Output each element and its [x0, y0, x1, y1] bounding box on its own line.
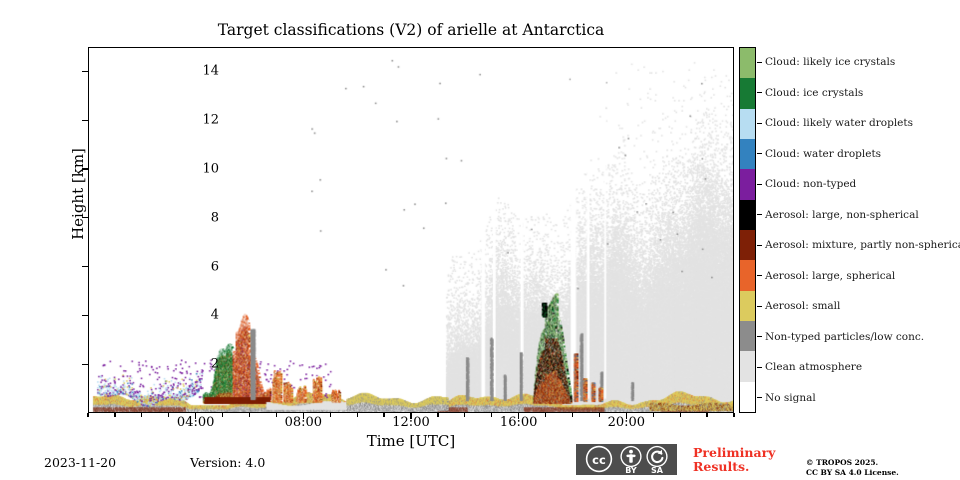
colorbar-label: Cloud: water droplets: [765, 148, 881, 160]
y-tick-mark: [82, 315, 88, 316]
footer-date: 2023-11-20: [44, 455, 116, 470]
x-tick-minor: [87, 413, 88, 417]
svg-text:SA: SA: [651, 466, 664, 475]
colorbar-label: Aerosol: large, spherical: [765, 270, 895, 282]
colorbar-band: [740, 321, 755, 351]
creative-commons-badge: cc BY SA: [576, 444, 677, 475]
colorbar-label: No signal: [765, 392, 816, 404]
x-tick-label: 04:00: [161, 415, 231, 430]
colorbar-tick: [757, 92, 762, 93]
colorbar-tick: [757, 123, 762, 124]
preliminary-line-1: Preliminary: [693, 446, 803, 460]
colorbar-label: Aerosol: mixture, partly non-spherical: [765, 239, 960, 251]
y-tick-label: 4: [179, 308, 219, 323]
y-tick-mark: [82, 266, 88, 267]
svg-text:cc: cc: [592, 453, 606, 467]
x-tick-minor: [572, 413, 573, 417]
copyright-line-2: CC BY SA 4.0 License.: [806, 468, 956, 478]
colorbar-label: Clean atmosphere: [765, 361, 862, 373]
chart-title: Target classifications (V2) of arielle a…: [88, 20, 734, 40]
colorbar-band: [740, 78, 755, 108]
colorbar-tick: [757, 245, 762, 246]
cc-badge-icon: cc BY SA: [576, 444, 677, 475]
colorbar-label: Aerosol: small: [765, 300, 840, 312]
colorbar-band: [740, 169, 755, 199]
x-tick-minor: [141, 413, 142, 417]
x-tick-minor: [733, 413, 734, 417]
x-tick-minor: [357, 413, 358, 417]
y-tick-label: 14: [179, 64, 219, 79]
colorbar-band: [740, 139, 755, 169]
y-tick-mark: [82, 364, 88, 365]
y-tick-label: 10: [179, 162, 219, 177]
colorbar-label: Aerosol: large, non-spherical: [765, 209, 919, 221]
footer-version: Version: 4.0: [190, 455, 265, 470]
colorbar: [739, 47, 756, 413]
y-tick-mark: [82, 217, 88, 218]
colorbar-band: [740, 230, 755, 260]
x-tick-label: 08:00: [268, 415, 338, 430]
colorbar-tick: [757, 275, 762, 276]
figure: Target classifications (V2) of arielle a…: [0, 0, 960, 480]
copyright-note: © TROPOS 2025. CC BY SA 4.0 License.: [806, 458, 956, 477]
x-tick-minor: [680, 413, 681, 417]
y-axis-label: Height [km]: [69, 94, 87, 294]
y-tick-mark: [82, 71, 88, 72]
colorbar-tick: [757, 214, 762, 215]
colorbar-tick: [757, 153, 762, 154]
colorbar-tick: [757, 62, 762, 63]
y-tick-mark: [82, 168, 88, 169]
colorbar-label: Cloud: likely ice crystals: [765, 56, 895, 68]
colorbar-band: [740, 351, 755, 381]
colorbar-band: [740, 109, 755, 139]
colorbar-tick: [757, 306, 762, 307]
y-tick-label: 6: [179, 259, 219, 274]
colorbar-label: Cloud: likely water droplets: [765, 117, 913, 129]
copyright-line-1: © TROPOS 2025.: [806, 458, 956, 468]
colorbar-band: [740, 200, 755, 230]
colorbar-tick: [757, 184, 762, 185]
x-tick-label: 12:00: [376, 415, 446, 430]
colorbar-band: [740, 382, 755, 412]
x-tick-minor: [464, 413, 465, 417]
preliminary-line-2: Results.: [693, 460, 803, 474]
colorbar-label: Cloud: non-typed: [765, 178, 856, 190]
x-tick-label: 16:00: [484, 415, 554, 430]
colorbar-label: Non-typed particles/low conc.: [765, 331, 924, 343]
svg-text:BY: BY: [625, 466, 637, 475]
y-tick-label: 8: [179, 210, 219, 225]
preliminary-results-note: Preliminary Results.: [693, 446, 803, 474]
y-tick-label: 12: [179, 113, 219, 128]
y-tick-mark: [82, 120, 88, 121]
x-tick-label: 20:00: [591, 415, 661, 430]
colorbar-band: [740, 48, 755, 78]
colorbar-band: [740, 291, 755, 321]
colorbar-band: [740, 260, 755, 290]
colorbar-tick: [757, 397, 762, 398]
x-tick-minor: [706, 413, 707, 417]
colorbar-tick: [757, 336, 762, 337]
colorbar-tick: [757, 367, 762, 368]
y-tick-label: 2: [179, 357, 219, 372]
colorbar-label: Cloud: ice crystals: [765, 87, 863, 99]
x-tick-minor: [114, 413, 115, 417]
x-tick-minor: [249, 413, 250, 417]
